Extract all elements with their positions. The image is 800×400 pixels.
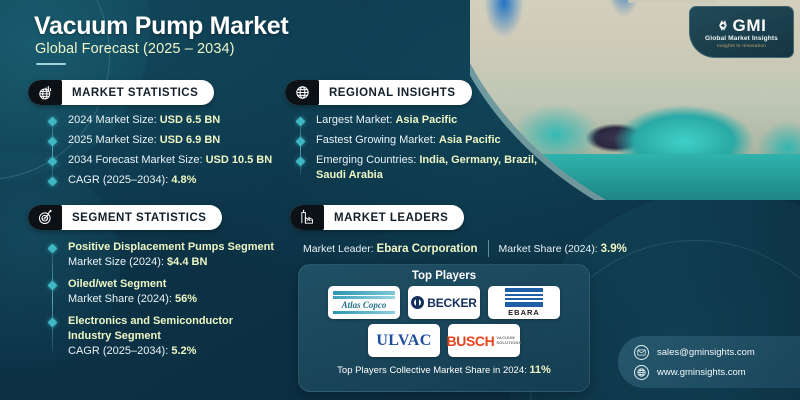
stat-line: 2034 Forecast Market Size: USD 10.5 BN xyxy=(68,153,287,168)
stat-value: $4.4 BN xyxy=(167,256,207,268)
segment-title: Positive Displacement Pumps Segment xyxy=(68,240,292,255)
bullet-diamond-icon xyxy=(47,244,57,254)
stat-line: Largest Market: Asia Pacific xyxy=(316,113,550,128)
contact-panel: sales@gminsights.com www.gminsights.com xyxy=(618,336,800,388)
bullet-diamond-icon xyxy=(47,177,57,187)
gmi-logo-badge: GMI Global Market Insights Insights to I… xyxy=(689,6,794,58)
logo-ulvac[interactable]: ULVAC xyxy=(368,324,440,357)
section-pill-segment-statistics[interactable]: SEGMENT STATISTICS xyxy=(28,205,222,230)
market-leader-label: Market Leader: xyxy=(303,243,377,255)
hero-wall-panel xyxy=(628,0,716,3)
section-pill-regional-insights[interactable]: REGIONAL INSIGHTS xyxy=(285,80,472,105)
globe-icon xyxy=(285,80,319,105)
list-item: Electronics and Semiconductor Industry S… xyxy=(52,314,292,359)
market-leader-value: Ebara Corporation xyxy=(377,243,478,255)
segment-statistics-list: Positive Displacement Pumps Segment Mark… xyxy=(52,240,292,359)
bullet-diamond-icon xyxy=(47,281,57,291)
stat-label: Largest Market: xyxy=(316,114,395,126)
list-item: 2025 Market Size: USD 6.9 BN xyxy=(52,133,287,148)
stat-label: Market Size (2024): xyxy=(68,256,167,268)
envelope-icon xyxy=(634,345,649,360)
gmi-diamond-icon xyxy=(717,19,730,32)
stat-line: Market Share (2024): 56% xyxy=(68,292,292,307)
vertical-divider xyxy=(488,240,489,257)
stat-value: India, Germany, Brazil, xyxy=(419,154,537,166)
top-players-heading: Top Players xyxy=(412,270,476,282)
stat-value: Asia Pacific xyxy=(395,114,457,126)
stat-value: USD 6.5 BN xyxy=(160,114,221,126)
atlas-bar-top xyxy=(333,291,395,295)
segment-title-continued: Industry Segment xyxy=(68,329,292,344)
list-item: Emerging Countries: India, Germany, Braz… xyxy=(300,153,550,183)
logo-row-1: Atlas Copco BECKER EBARA xyxy=(328,286,560,319)
market-leader-text: Market Leader: Ebara Corporation xyxy=(303,243,478,255)
stat-value: Asia Pacific xyxy=(439,134,501,146)
gmi-logo-fullname: Global Market Insights xyxy=(705,35,778,42)
top-players-card: Top Players Atlas Copco BECKER xyxy=(298,264,590,392)
stat-line: CAGR (2025–2034): 4.8% xyxy=(68,173,287,188)
section-pill-market-leaders[interactable]: MARKET LEADERS xyxy=(290,205,464,230)
stat-line: 2024 Market Size: USD 6.5 BN xyxy=(68,113,287,128)
ebara-wordmark: EBARA xyxy=(508,308,540,317)
list-rail xyxy=(52,119,53,180)
title-underline-rule xyxy=(36,63,66,65)
busch-sub-solutions: SOLUTIONS xyxy=(496,341,521,346)
list-item: Largest Market: Asia Pacific xyxy=(300,113,550,128)
contact-website-row[interactable]: www.gminsights.com xyxy=(634,365,800,380)
section-pill-label: REGIONAL INSIGHTS xyxy=(319,87,472,99)
bullet-diamond-icon xyxy=(47,318,57,328)
segment-title: Electronics and Semiconductor xyxy=(68,314,292,329)
gmi-logo-tagline: Insights to Innovation xyxy=(717,43,766,48)
market-share-label: Market Share (2024): xyxy=(499,243,601,255)
section-pill-market-statistics[interactable]: MARKET STATISTICS xyxy=(28,80,214,105)
collective-share-text: Top Players Collective Market Share in 2… xyxy=(337,364,551,376)
becker-circle-icon xyxy=(411,296,424,309)
page-subtitle: Global Forecast (2025 – 2034) xyxy=(35,41,235,57)
globe-chart-icon xyxy=(28,80,62,105)
atlas-bar-second xyxy=(333,296,395,299)
bullet-diamond-icon xyxy=(295,117,305,127)
infographic-canvas: GMI Global Market Insights Insights to I… xyxy=(0,0,800,400)
page-title: Vacuum Pump Market xyxy=(34,12,288,41)
stat-label: 2034 Forecast Market Size: xyxy=(68,154,206,166)
stat-value: USD 10.5 BN xyxy=(206,154,273,166)
gmi-logo-name: GMI xyxy=(733,17,767,34)
stat-label: Market Share (2024): xyxy=(68,293,175,305)
factory-chart-icon xyxy=(290,205,324,230)
stat-label: CAGR (2025–2034): xyxy=(68,345,171,357)
ebara-block-icon xyxy=(505,288,543,307)
atlas-copco-mark: Atlas Copco xyxy=(333,291,395,315)
contact-email-row[interactable]: sales@gminsights.com xyxy=(634,345,800,360)
busch-mark: BUSCH VACUUM SOLUTIONS xyxy=(447,333,522,349)
bullet-diamond-icon xyxy=(295,157,305,167)
stat-line: Emerging Countries: India, Germany, Braz… xyxy=(316,153,550,168)
stat-label: 2024 Market Size: xyxy=(68,114,160,126)
list-item: Oiled/wet Segment Market Share (2024): 5… xyxy=(52,277,292,307)
section-pill-label: MARKET LEADERS xyxy=(324,212,464,224)
logo-atlas-copco[interactable]: Atlas Copco xyxy=(328,286,400,319)
market-share-text: Market Share (2024): 3.9% xyxy=(499,243,627,255)
busch-subtext: VACUUM SOLUTIONS xyxy=(496,336,521,345)
section-pill-label: SEGMENT STATISTICS xyxy=(62,212,222,224)
logo-busch[interactable]: BUSCH VACUUM SOLUTIONS xyxy=(448,324,520,357)
atlas-bar-bottom xyxy=(333,311,395,315)
globe-icon xyxy=(634,365,649,380)
stat-label: Emerging Countries: xyxy=(316,154,419,166)
market-share-value: 3.9% xyxy=(601,243,627,255)
regional-insights-list: Largest Market: Asia Pacific Fastest Gro… xyxy=(300,113,550,183)
segment-title: Oiled/wet Segment xyxy=(68,277,292,292)
stat-label: 2025 Market Size: xyxy=(68,134,160,146)
busch-wordmark: BUSCH xyxy=(447,333,495,349)
market-statistics-list: 2024 Market Size: USD 6.5 BN 2025 Market… xyxy=(52,113,287,188)
stat-value: 5.2% xyxy=(171,345,196,357)
gmi-logo-row: GMI xyxy=(717,17,767,34)
logo-row-2: ULVAC BUSCH VACUUM SOLUTIONS xyxy=(368,324,520,357)
stat-line: 2025 Market Size: USD 6.9 BN xyxy=(68,133,287,148)
list-item: 2034 Forecast Market Size: USD 10.5 BN xyxy=(52,153,287,168)
list-item: 2024 Market Size: USD 6.5 BN xyxy=(52,113,287,128)
stat-line: Market Size (2024): $4.4 BN xyxy=(68,255,292,270)
collective-share-value: 11% xyxy=(529,364,550,376)
stat-line: CAGR (2025–2034): 5.2% xyxy=(68,344,292,359)
logo-becker[interactable]: BECKER xyxy=(408,286,480,319)
stat-value: 4.8% xyxy=(171,174,196,186)
atlas-copco-wordmark: Atlas Copco xyxy=(342,300,387,310)
stat-label: CAGR (2025–2034): xyxy=(68,174,171,186)
logo-ebara[interactable]: EBARA xyxy=(488,286,560,319)
market-leader-bar: Market Leader: Ebara Corporation Market … xyxy=(303,240,627,257)
stat-value-continued: Saudi Arabia xyxy=(316,168,550,183)
section-pill-label: MARKET STATISTICS xyxy=(62,87,214,99)
contact-website: www.gminsights.com xyxy=(657,367,746,378)
list-item: CAGR (2025–2034): 4.8% xyxy=(52,173,287,188)
becker-wordmark: BECKER xyxy=(427,296,476,310)
becker-mark: BECKER xyxy=(411,296,476,310)
list-item: Positive Displacement Pumps Segment Mark… xyxy=(52,240,292,270)
ulvac-wordmark: ULVAC xyxy=(376,332,431,350)
target-chart-icon xyxy=(28,205,62,230)
collective-share-label: Top Players Collective Market Share in 2… xyxy=(337,365,529,376)
contact-email: sales@gminsights.com xyxy=(657,347,755,358)
stat-value: USD 6.9 BN xyxy=(160,134,221,146)
ebara-mark: EBARA xyxy=(505,288,543,317)
bullet-diamond-icon xyxy=(295,137,305,147)
list-item: Fastest Growing Market: Asia Pacific xyxy=(300,133,550,148)
stat-value: 56% xyxy=(175,293,197,305)
stat-line: Fastest Growing Market: Asia Pacific xyxy=(316,133,550,148)
stat-label: Fastest Growing Market: xyxy=(316,134,439,146)
